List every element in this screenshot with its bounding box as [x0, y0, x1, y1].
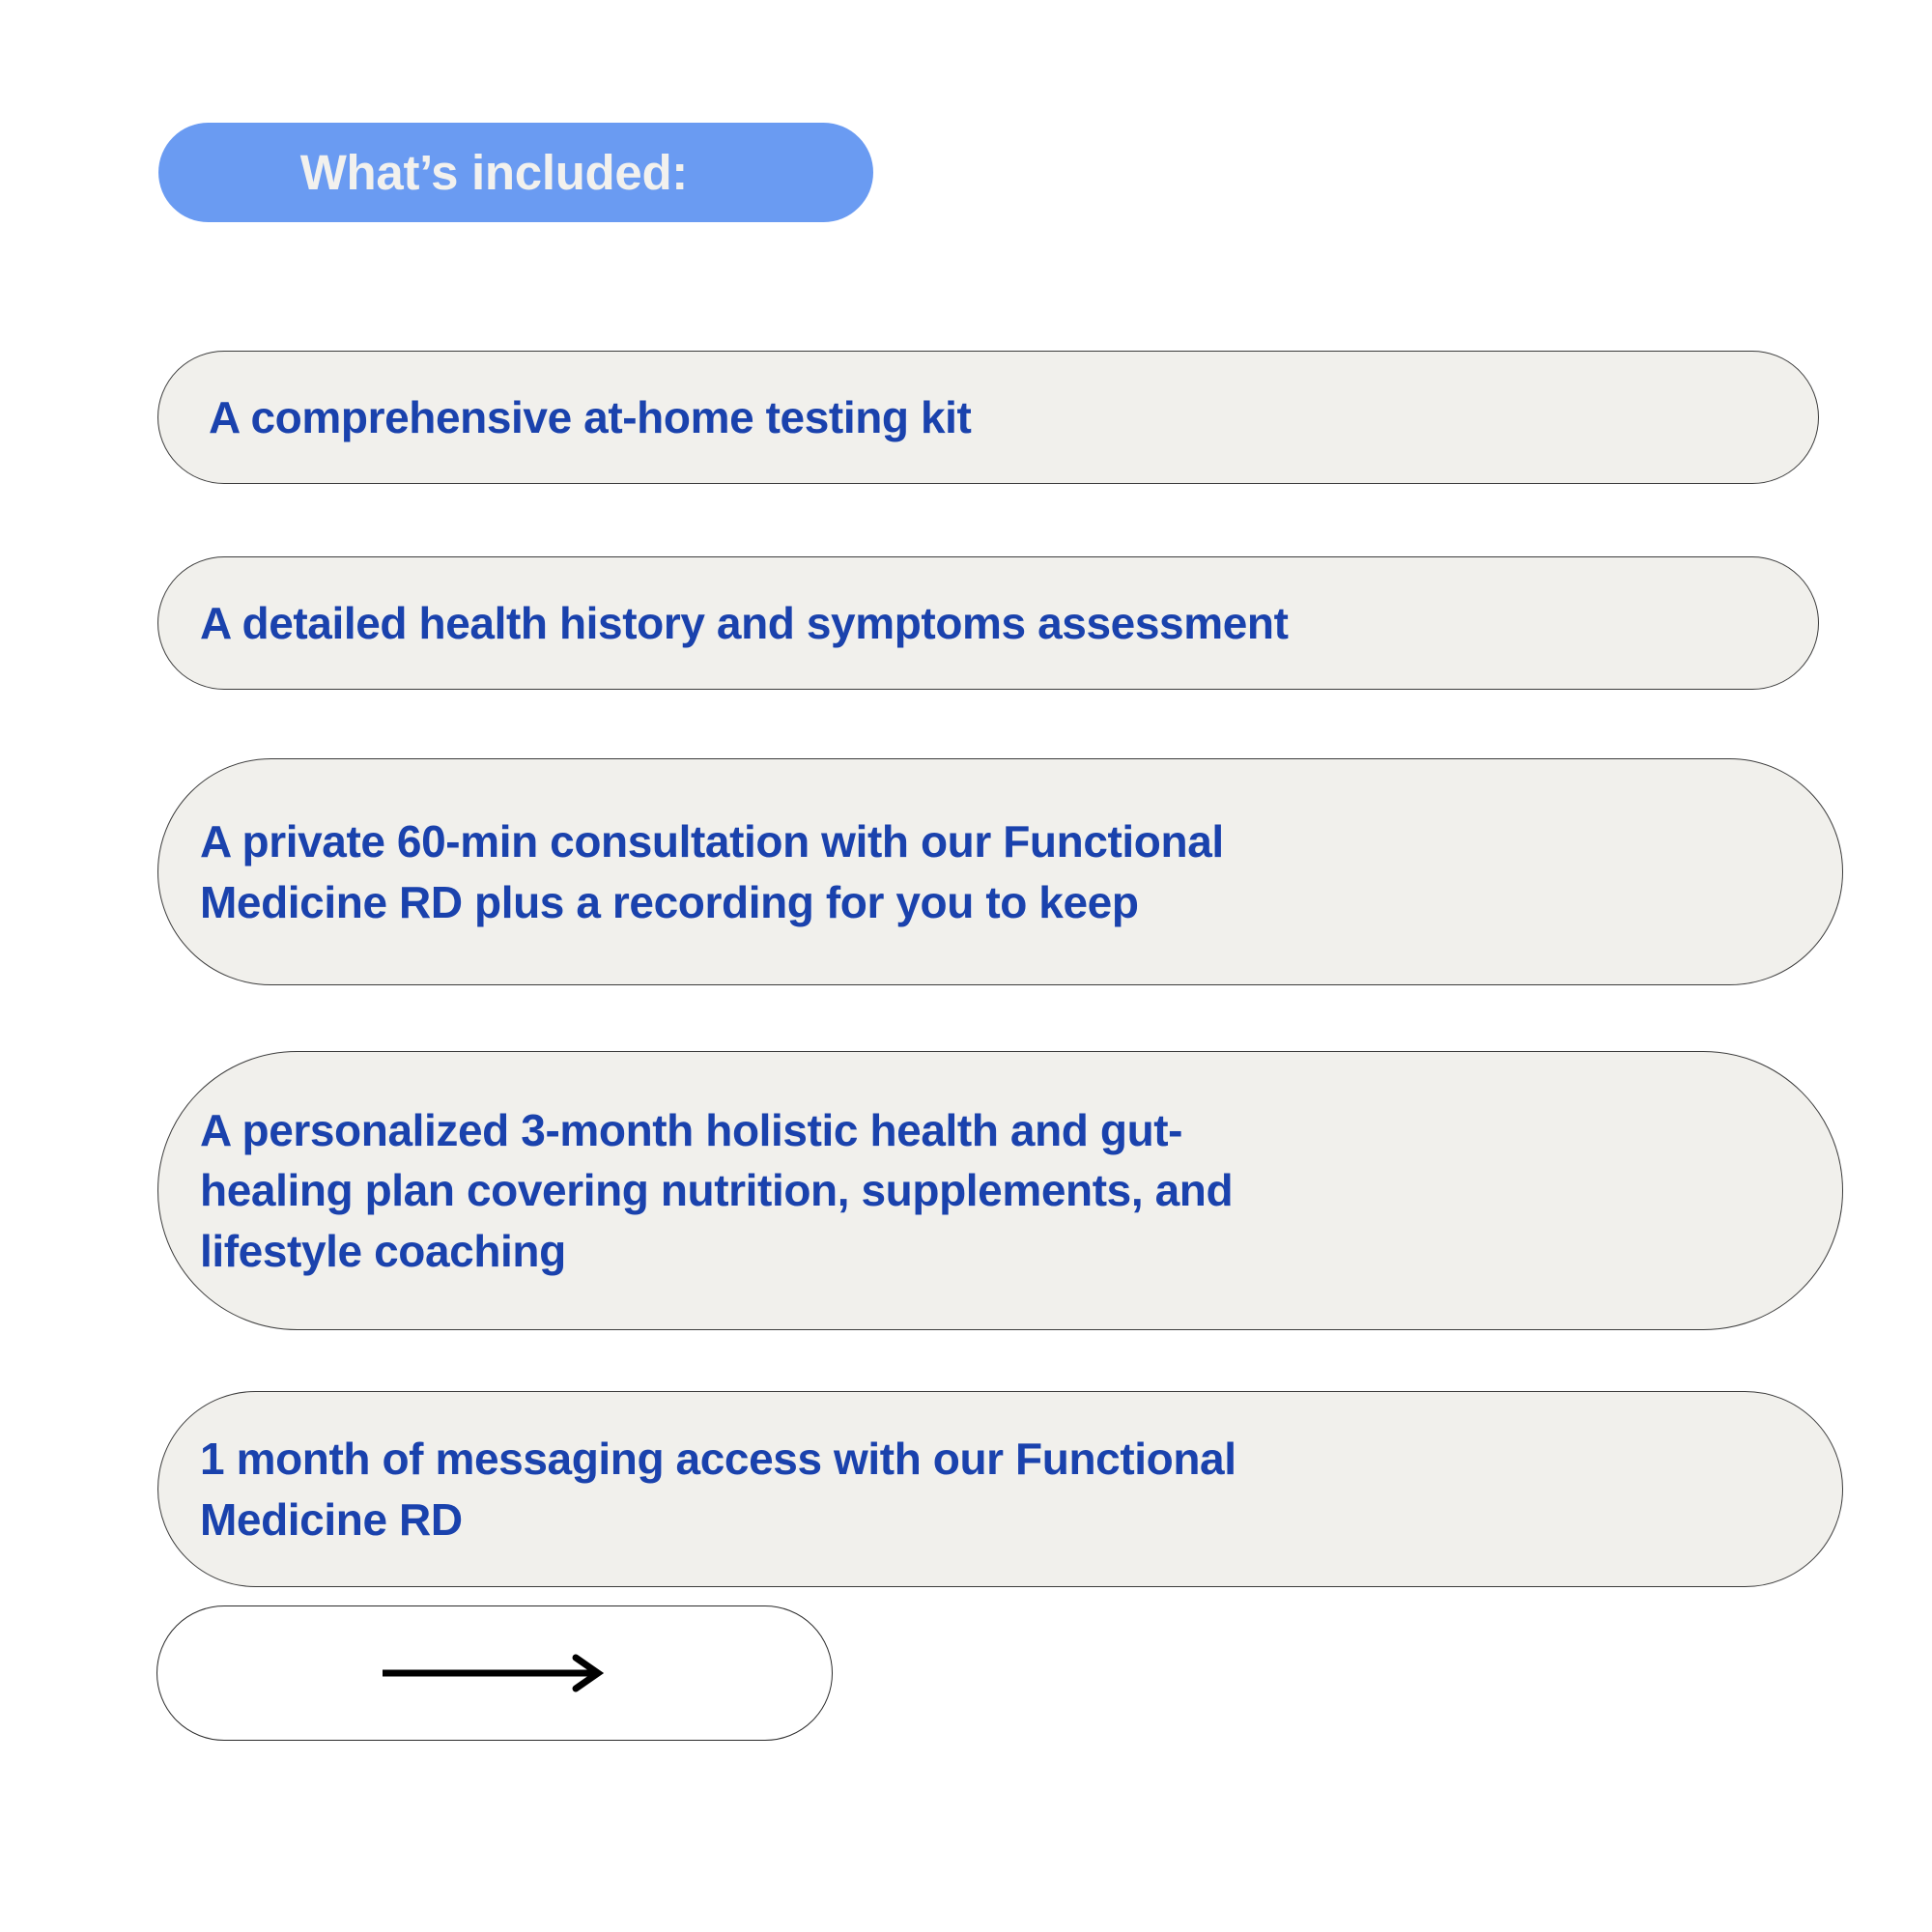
list-item-label: A comprehensive at-home testing kit — [158, 387, 1009, 448]
list-item-label: 1 month of messaging access with our Fun… — [158, 1429, 1275, 1549]
whats-included-panel: What’s included: A comprehensive at-home… — [0, 0, 1932, 1932]
whats-included-header: What’s included: — [158, 123, 873, 222]
list-item[interactable]: A comprehensive at-home testing kit — [157, 351, 1819, 484]
list-item[interactable]: A personalized 3-month holistic health a… — [157, 1051, 1843, 1330]
list-item-label: A private 60-min consultation with our F… — [158, 811, 1263, 932]
list-item[interactable]: A detailed health history and symptoms a… — [157, 556, 1819, 690]
list-item-label: A personalized 3-month holistic health a… — [158, 1100, 1271, 1282]
list-item[interactable]: A private 60-min consultation with our F… — [157, 758, 1843, 985]
page-title: What’s included: — [300, 148, 688, 197]
next-button[interactable] — [156, 1605, 833, 1741]
list-item[interactable]: 1 month of messaging access with our Fun… — [157, 1391, 1843, 1587]
list-item-label: A detailed health history and symptoms a… — [158, 593, 1327, 654]
arrow-right-icon — [379, 1652, 611, 1694]
